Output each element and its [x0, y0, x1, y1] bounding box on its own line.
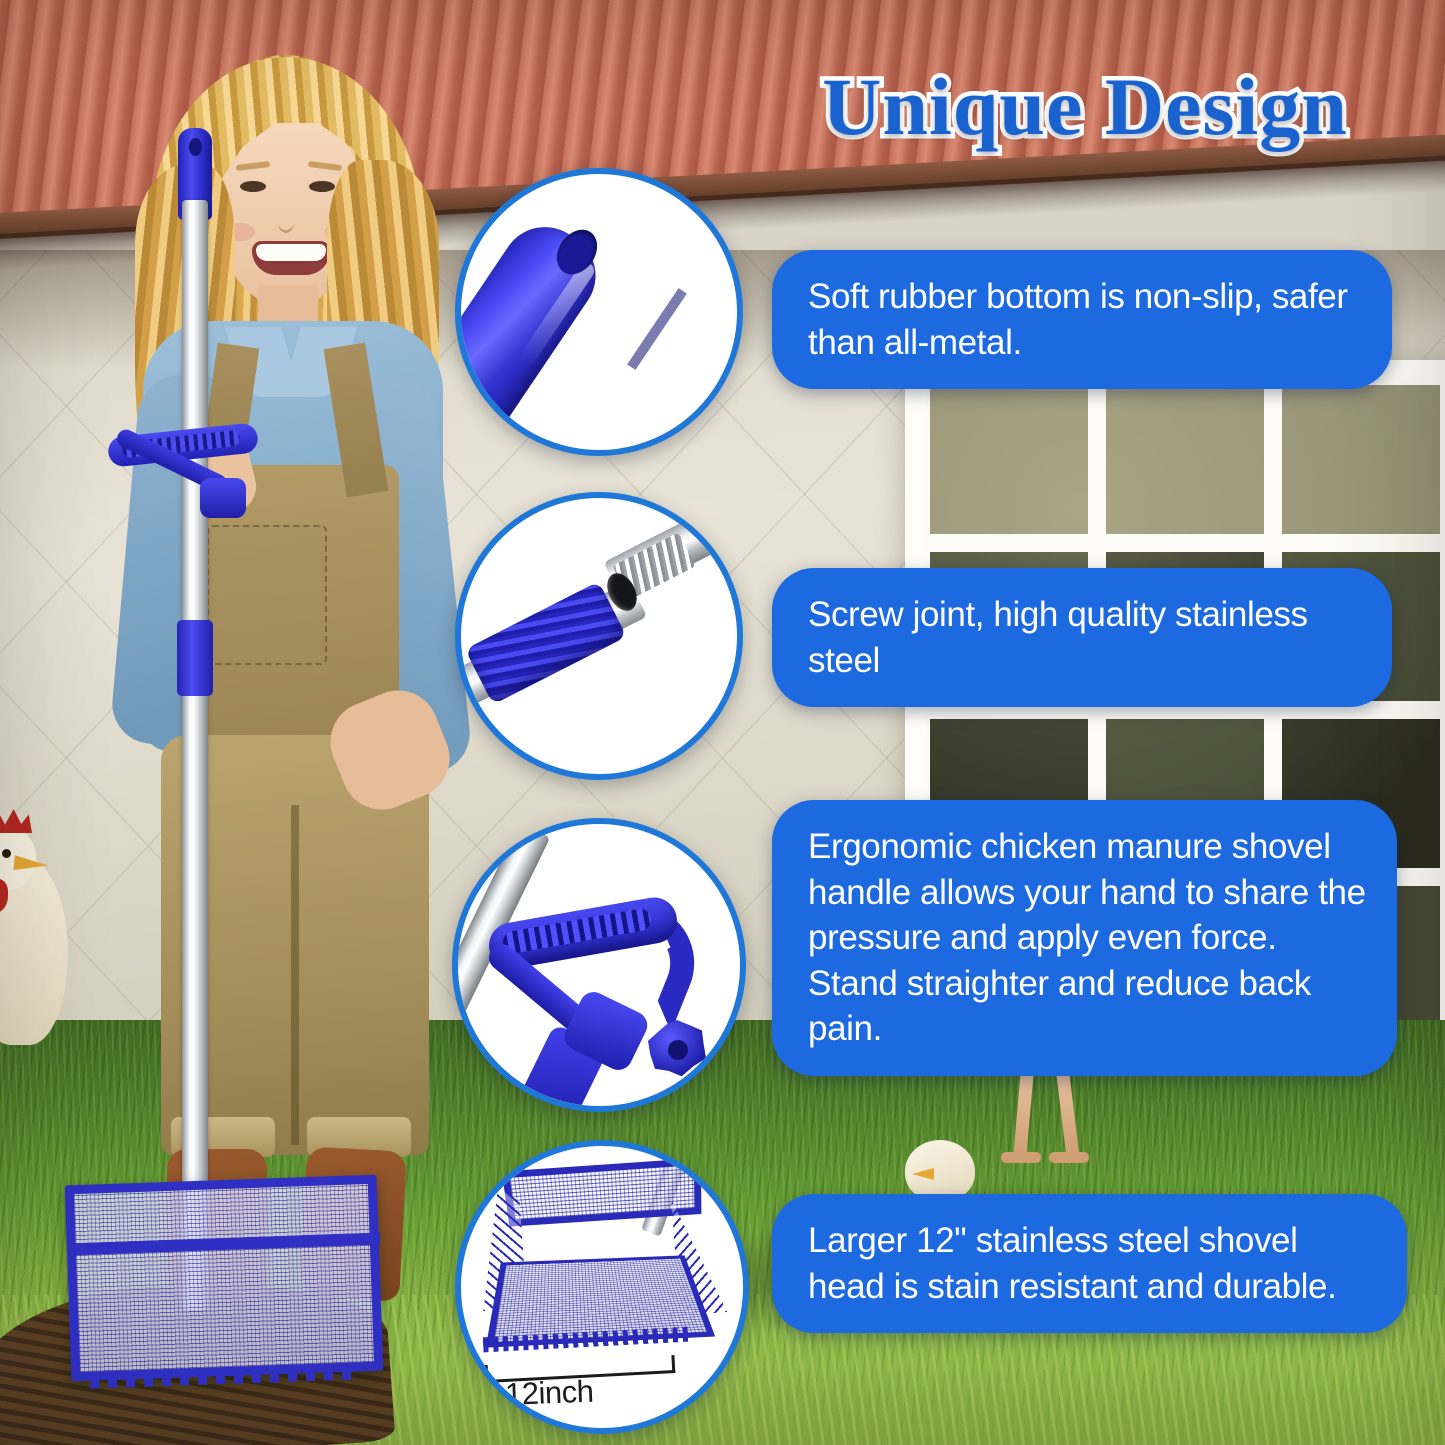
- feature-image-screw-joint: [455, 492, 743, 780]
- feature-image-soft-rubber-bottom: [455, 168, 743, 456]
- chicken-right-legs: [995, 1060, 1125, 1200]
- infographic-canvas: Unique Design 12inch: [0, 0, 1445, 1445]
- feature-image-ergonomic-handle: [452, 818, 746, 1112]
- chicken-comb-icon: [0, 803, 32, 833]
- manure-shovel-product: [160, 110, 400, 1400]
- ribbed-blue-grip-detail: [465, 581, 627, 704]
- screw-joint-band: [177, 620, 213, 696]
- feature-callout-shovel-head: Larger 12" stainless steel shovel head i…: [772, 1194, 1407, 1333]
- feature-image-shovel-head: 12inch: [455, 1140, 749, 1434]
- shovel-pole: [182, 200, 208, 1310]
- chick-small: [905, 1140, 975, 1202]
- chicken-left: [0, 795, 82, 1045]
- feature-callout-screw-joint: Screw joint, high quality stainless stee…: [772, 568, 1392, 707]
- feature-callout-soft-rubber-bottom: Soft rubber bottom is non-slip, safer th…: [772, 250, 1392, 389]
- page-title: Unique Design: [760, 52, 1410, 162]
- feature-callout-ergonomic-handle: Ergonomic chicken manure shovel handle a…: [772, 800, 1397, 1076]
- ergonomic-d-handle: [108, 430, 268, 522]
- mesh-shovel-head: [65, 1175, 384, 1382]
- dimension-label: 12inch: [504, 1371, 665, 1413]
- head-back-wall-detail: [502, 1158, 702, 1227]
